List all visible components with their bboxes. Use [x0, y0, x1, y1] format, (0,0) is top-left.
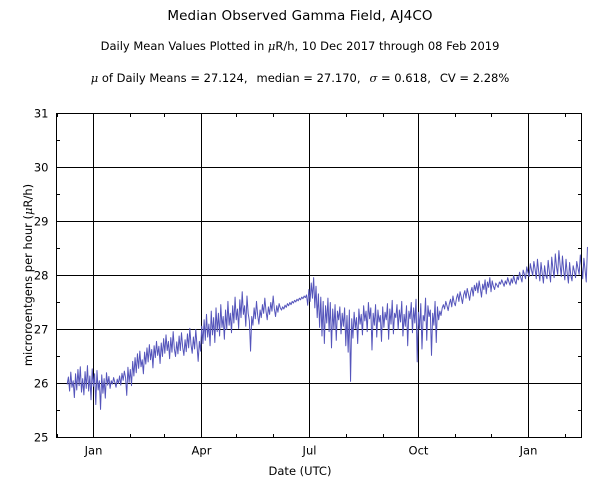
chart-subtitle: Daily Mean Values Plotted in μR/h, 10 De… — [0, 39, 600, 53]
ylabel-post: R/h) — [21, 184, 35, 208]
chart-statistics-line: μ of Daily Means = 27.124,median = 27.17… — [0, 71, 600, 85]
x-axis-title: Date (UTC) — [0, 464, 600, 478]
y-tick-label: 28 — [34, 269, 49, 283]
ylabel-mu-symbol: μ — [21, 208, 35, 215]
x-tick-label: Jan — [519, 444, 538, 458]
stats-mean: of Daily Means = 27.124, — [98, 71, 247, 85]
y-tick-label: 27 — [34, 323, 49, 337]
y-axis-title: microroentgens per hour (μR/h) — [21, 155, 35, 395]
y-tick-label: 26 — [34, 377, 49, 391]
y-tick-label: 25 — [34, 431, 49, 445]
y-tick-label: 29 — [34, 215, 49, 229]
y-tick-label: 31 — [34, 107, 49, 121]
stats-median: median = 27.170, — [257, 71, 361, 85]
x-tick-label: Jan — [84, 444, 103, 458]
data-series — [67, 247, 587, 409]
y-tick-label: 30 — [34, 161, 49, 175]
ylabel-pre: microroentgens per hour ( — [21, 215, 35, 366]
subtitle-pre: Daily Mean Values Plotted in — [101, 39, 268, 53]
gamma-field-chart-figure: Median Observed Gamma Field, AJ4CO Daily… — [0, 0, 600, 496]
x-tick-label: Jul — [302, 444, 317, 458]
series-line — [67, 247, 587, 409]
stats-cv: CV = 2.28% — [440, 71, 509, 85]
x-tick-label: Oct — [409, 444, 429, 458]
page-title: Median Observed Gamma Field, AJ4CO — [0, 8, 600, 24]
x-tick-label: Apr — [192, 444, 212, 458]
x-axis-tick-labels: JanAprJulOctJan — [84, 444, 538, 458]
stats-sigma-value: = 0.618, — [377, 71, 431, 85]
gridlines — [57, 114, 582, 438]
subtitle-post: R/h, 10 Dec 2017 through 08 Feb 2019 — [275, 39, 499, 53]
y-axis-tick-labels: 25262728293031 — [34, 107, 49, 445]
